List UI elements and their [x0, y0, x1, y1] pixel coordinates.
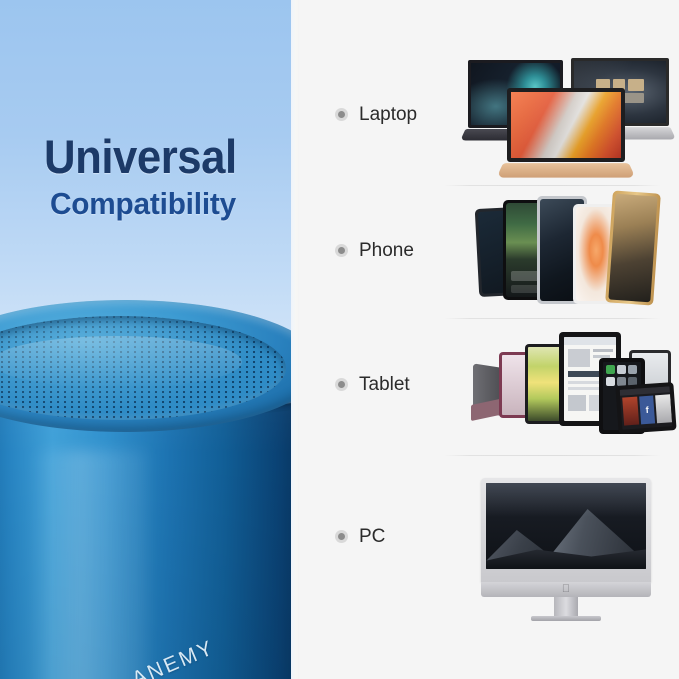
- macbook-keyboard: [497, 163, 636, 177]
- headline-secondary: Compatibility: [50, 187, 275, 221]
- screen-thumb: [568, 395, 586, 411]
- bullet-icon: [335, 378, 348, 391]
- imac-stand-foot: [531, 616, 601, 621]
- imac-computer: : [481, 478, 651, 598]
- apple-logo-icon: : [562, 584, 570, 595]
- desktop-imac-image: : [459, 474, 675, 599]
- bullet-icon: [335, 108, 348, 121]
- row-label-tablet: Tablet: [299, 374, 459, 396]
- device-row-laptop: Laptop: [299, 48, 679, 181]
- screen-thumb: [622, 397, 639, 426]
- phone-screen: [608, 194, 657, 303]
- screen-tile: [628, 79, 644, 91]
- row-divider: [444, 455, 660, 456]
- bullet-icon: [335, 244, 348, 257]
- phone-gold: [605, 190, 661, 305]
- tablet-devices-image: f: [459, 322, 675, 447]
- tablet-screen: f: [620, 386, 673, 429]
- macbook-screen: [507, 88, 625, 162]
- headline-primary: Universal: [44, 132, 267, 182]
- product-speaker-image: ANEMY: [0, 300, 291, 679]
- row-label-phone: Phone: [299, 240, 459, 262]
- imac-bezel: [481, 478, 651, 582]
- device-label: Laptop: [359, 104, 417, 126]
- device-row-phone: Phone: [299, 184, 679, 317]
- screen-header: [564, 337, 616, 345]
- app-icon: [606, 365, 615, 374]
- left-hero-panel: Universal Compatibility ANEMY: [0, 0, 291, 679]
- speaker-highlight: [30, 450, 148, 679]
- imac-chin: : [481, 582, 651, 597]
- row-label-laptop: Laptop: [299, 104, 459, 126]
- laptop-macbook-gold: [507, 88, 625, 180]
- app-icon: [617, 365, 626, 374]
- phone-devices-image: [459, 188, 675, 313]
- row-label-pc: PC: [299, 526, 459, 548]
- headline-block: Universal Compatibility: [44, 132, 284, 221]
- device-label: PC: [359, 526, 385, 548]
- panel-edge-strip: [291, 0, 299, 679]
- device-label: Tablet: [359, 374, 410, 396]
- device-row-tablet: Tablet: [299, 318, 679, 451]
- speaker-grille-gloss: [0, 336, 242, 388]
- imac-screen: [486, 483, 646, 569]
- macbook-wallpaper: [511, 92, 621, 158]
- screen-line: [593, 349, 613, 352]
- laptop-devices-image: [459, 52, 675, 177]
- app-icon: [628, 365, 637, 374]
- device-list-panel: Laptop: [299, 0, 679, 679]
- speaker-top-surface: [0, 300, 291, 432]
- dune-sky-glow: [486, 483, 646, 517]
- device-row-pc: PC : [299, 470, 679, 603]
- app-icon: f: [639, 395, 655, 424]
- tablet-kindle-fire: f: [615, 382, 676, 434]
- device-label: Phone: [359, 240, 414, 262]
- bullet-icon: [335, 530, 348, 543]
- screen-thumb: [568, 349, 590, 367]
- infographic-canvas: Universal Compatibility ANEMY Laptop: [0, 0, 679, 679]
- speaker-grille-mesh: [0, 316, 286, 420]
- screen-thumb: [655, 394, 672, 423]
- app-icon: [606, 377, 615, 386]
